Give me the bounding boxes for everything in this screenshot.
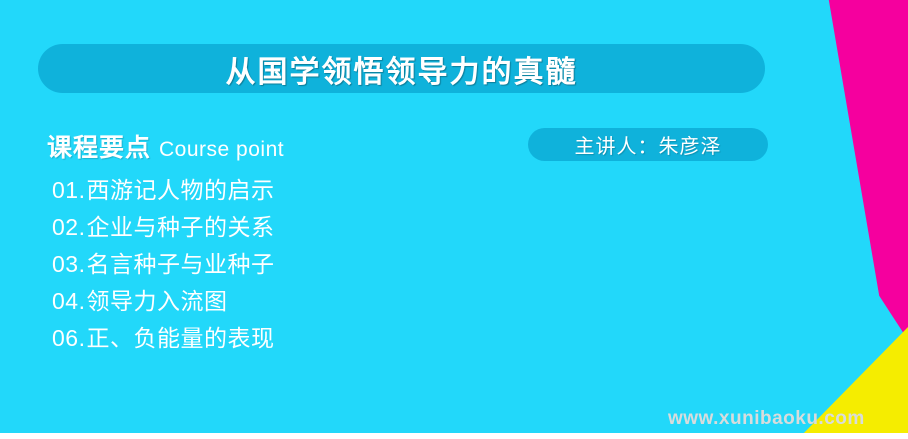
slide-canvas: 从国学领悟领导力的真髓 课程要点 Course point 主讲人：朱彦泽 01…: [0, 0, 908, 439]
list-item-label: 正、负能量的表现: [86, 325, 274, 351]
list-item: 04.领导力入流图: [52, 283, 274, 320]
list-item: 02.企业与种子的关系: [52, 209, 274, 246]
list-item-number: 04.: [52, 288, 85, 314]
list-item-number: 03.: [52, 251, 85, 277]
course-point-list: 01.西游记人物的启示 02.企业与种子的关系 03.名言种子与业种子 04.领…: [52, 172, 274, 357]
section-heading-en: Course point: [159, 138, 284, 162]
list-item: 03.名言种子与业种子: [52, 246, 274, 283]
list-item-number: 02.: [52, 214, 85, 240]
title-banner: 从国学领悟领导力的真髓: [38, 44, 765, 93]
list-item-number: 06.: [52, 325, 85, 351]
list-item-number: 01.: [52, 177, 85, 203]
list-item: 01.西游记人物的启示: [52, 172, 274, 209]
list-item: 06.正、负能量的表现: [52, 320, 274, 357]
site-watermark: www.xunibaoku.com: [668, 408, 865, 430]
list-item-label: 西游记人物的启示: [86, 177, 274, 203]
page-title: 从国学领悟领导力的真髓: [226, 47, 578, 91]
section-heading: 课程要点 Course point: [47, 128, 284, 164]
speaker-badge: 主讲人：朱彦泽: [528, 128, 768, 161]
list-item-label: 企业与种子的关系: [86, 214, 274, 240]
speaker-label: 主讲人：朱彦泽: [575, 130, 722, 159]
bottom-strip: [0, 433, 908, 439]
list-item-label: 名言种子与业种子: [86, 251, 274, 277]
section-heading-cn: 课程要点: [47, 128, 151, 164]
list-item-label: 领导力入流图: [86, 288, 227, 314]
